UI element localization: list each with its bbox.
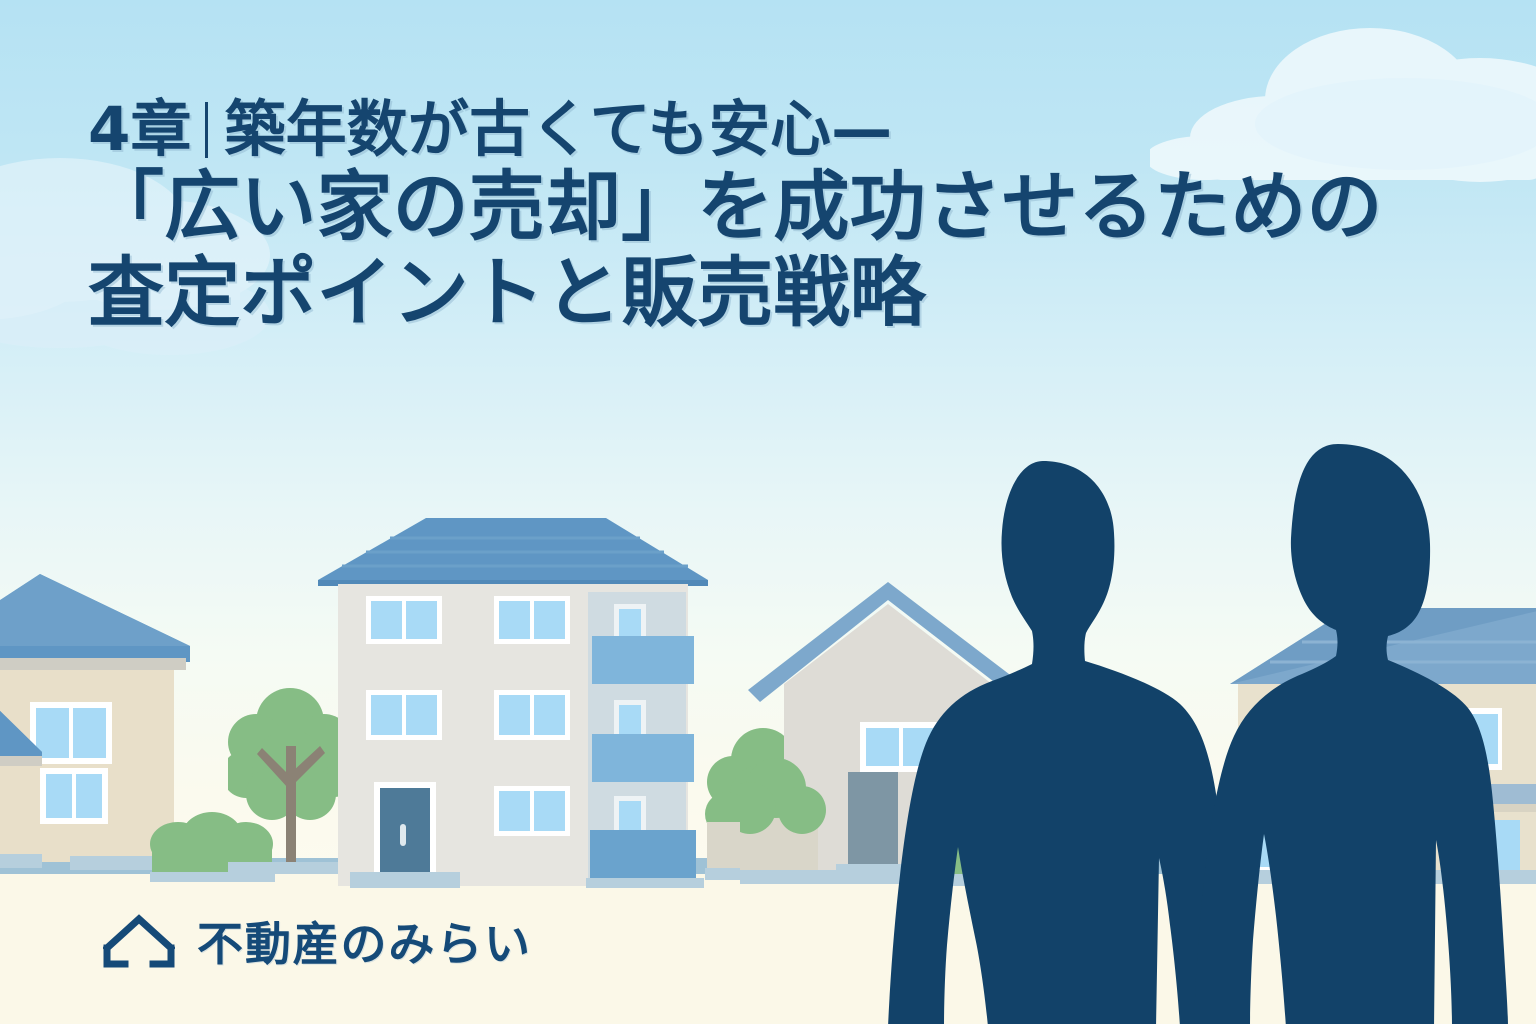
brand-logo[interactable]: 不動産のみらい [103,908,532,974]
hero-banner: 4章築年数が古くても安心— 「広い家の売却」を成功させるための 査定ポイントと販… [0,0,1536,1024]
chapter-number: 4章 [88,94,191,165]
title-line-3: 査定ポイントと販売戦略 [88,248,1488,338]
page-title: 4章築年数が古くても安心— 「広い家の売却」を成功させるための 査定ポイントと販… [88,96,1488,338]
title-line-2: 「広い家の売却」を成功させるための [88,162,1488,252]
brand-name: 不動産のみらい [197,908,532,974]
title-line-1-rest: 築年数が古くても安心— [224,94,892,165]
apartment-center [296,508,728,888]
title-line-1: 4章築年数が古くても安心— [88,96,1488,164]
silhouette-woman [1190,440,1510,1024]
house-outline-icon [103,912,175,970]
title-separator-bar [205,102,208,158]
